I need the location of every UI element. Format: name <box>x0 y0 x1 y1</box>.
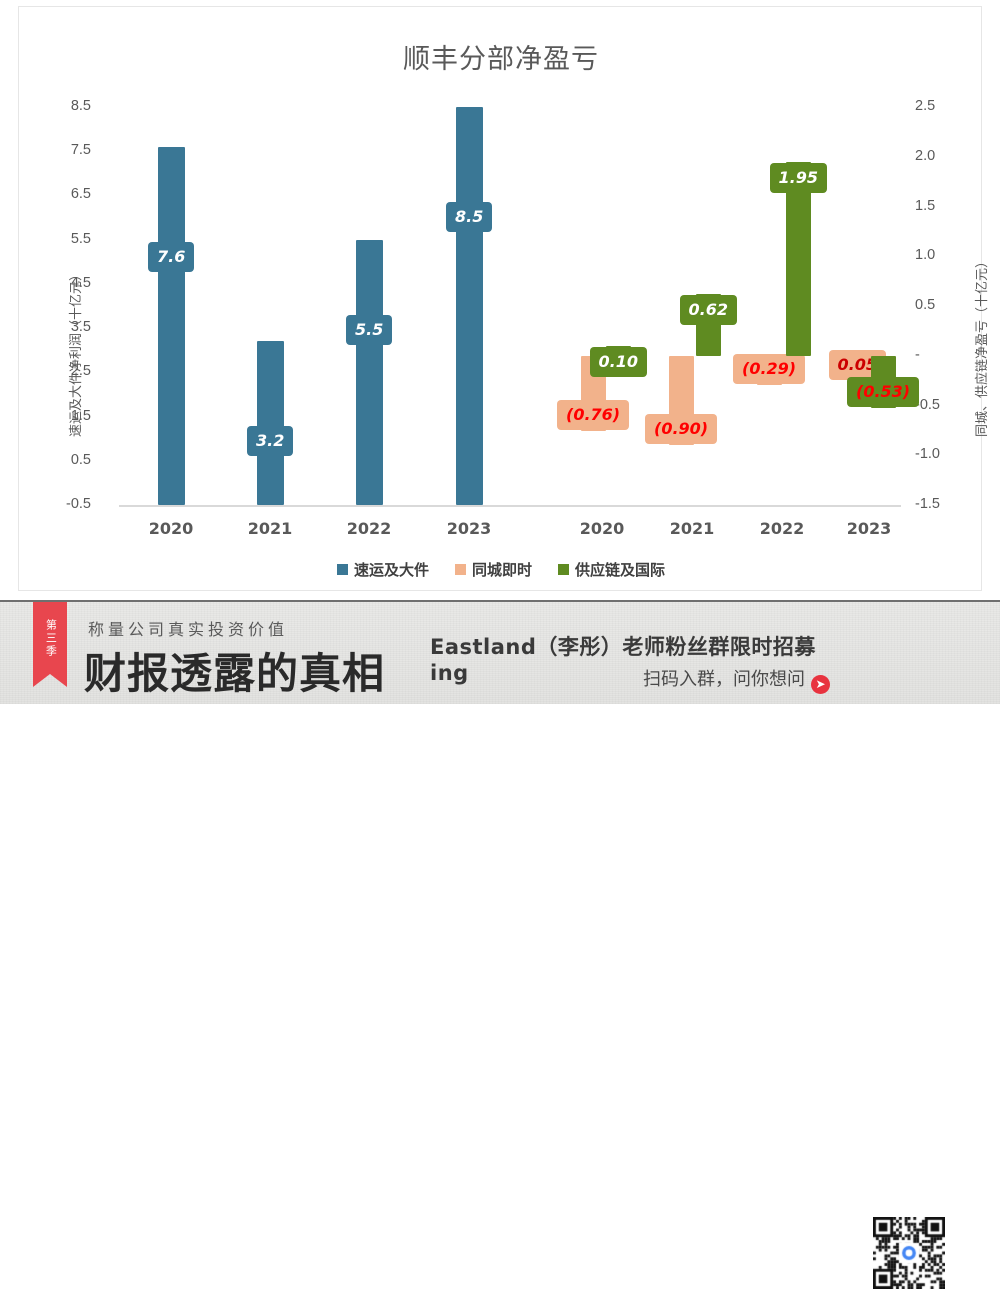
chart-title: 顺丰分部净盈亏 <box>19 37 983 76</box>
value-label-blue-2020: 7.6 <box>148 242 194 272</box>
legend-label: 供应链及国际 <box>575 559 665 580</box>
season-ribbon: 第三季 <box>33 602 67 674</box>
legend-label: 速运及大件 <box>354 559 429 580</box>
x-axis-tick: 2023 <box>834 519 904 538</box>
value-label-orange-2021: (0.90) <box>645 414 717 444</box>
screenshot-root: 顺丰分部净盈亏 8.57.56.55.54.53.52.51.50.5-0.5 … <box>0 0 1000 702</box>
x-axis-tick: 2022 <box>747 519 817 538</box>
bar-blue-2020 <box>158 147 185 505</box>
x-axis-tick: 2021 <box>657 519 727 538</box>
right-axis-tick: -1.5 <box>915 496 975 512</box>
value-label-green-2020: 0.10 <box>590 347 647 377</box>
bar-blue-2021 <box>257 341 284 505</box>
x-axis-tick: 2023 <box>434 519 504 538</box>
legend-label: 同城即时 <box>472 559 532 580</box>
value-label-blue-2023: 8.5 <box>446 202 492 232</box>
legend-swatch-icon <box>337 564 348 575</box>
plot-area <box>119 97 899 507</box>
x-axis-tick: 2020 <box>567 519 637 538</box>
left-axis-tick: 5.5 <box>39 231 91 247</box>
value-label-green-2022: 1.95 <box>770 163 827 193</box>
chart-legend: 速运及大件同城即时供应链及国际 <box>19 559 983 580</box>
right-axis-tick: -0.5 <box>915 397 975 413</box>
x-axis-tick: 2020 <box>136 519 206 538</box>
left-axis-tick: 6.5 <box>39 186 91 202</box>
left-axis-tick: 7.5 <box>39 142 91 158</box>
legend-item-2[interactable]: 供应链及国际 <box>558 559 665 580</box>
right-axis-tick: - <box>915 347 975 363</box>
brand-tagline: 称量公司真实投资价值 <box>88 616 288 640</box>
legend-swatch-icon <box>455 564 466 575</box>
qr-code-canvas <box>873 1217 945 1289</box>
value-label-green-2023: (0.53) <box>847 377 919 407</box>
right-axis-tick: 1.0 <box>915 247 975 263</box>
promo-subline: 扫码入群，问你想问➤ <box>430 665 830 694</box>
x-axis-tick: 2021 <box>235 519 305 538</box>
footer-banner: 第三季 称量公司真实投资价值 财报透露的真相 Eastland（李彤）老师粉丝群… <box>0 600 1000 704</box>
legend-item-1[interactable]: 同城即时 <box>455 559 532 580</box>
promo-subline-text: 扫码入群，问你想问 <box>643 669 805 690</box>
arrow-right-icon: ➤ <box>811 675 830 694</box>
right-axis-tick: 2.0 <box>915 148 975 164</box>
legend-item-0[interactable]: 速运及大件 <box>337 559 429 580</box>
right-axis-tick: -1.0 <box>915 446 975 462</box>
value-label-green-2021: 0.62 <box>680 295 737 325</box>
bar-blue-2023 <box>456 107 483 505</box>
value-label-orange-2022: (0.29) <box>733 354 805 384</box>
right-axis-tick: 0.5 <box>915 297 975 313</box>
legend-swatch-icon <box>558 564 569 575</box>
x-axis-tick: 2022 <box>334 519 404 538</box>
chart-card: 顺丰分部净盈亏 8.57.56.55.54.53.52.51.50.5-0.5 … <box>18 6 982 591</box>
season-ribbon-label: 第三季 <box>44 619 57 658</box>
left-axis-tick: -0.5 <box>39 496 91 512</box>
value-label-blue-2022: 5.5 <box>346 315 392 345</box>
right-axis-tick: 1.5 <box>915 198 975 214</box>
bar-blue-2022 <box>356 240 383 505</box>
left-axis-tick: 8.5 <box>39 98 91 114</box>
qr-code-icon <box>873 1217 945 1289</box>
brand-title: 财报透露的真相 <box>84 640 385 701</box>
left-axis-tick: 0.5 <box>39 452 91 468</box>
right-axis-tick: 2.5 <box>915 98 975 114</box>
left-axis-title: 速运及大件净利润（十亿元） <box>65 268 84 437</box>
right-axis-title: 同城、供应链净盈亏（十亿元） <box>971 255 990 437</box>
value-label-blue-2021: 3.2 <box>247 426 293 456</box>
value-label-orange-2020: (0.76) <box>557 400 629 430</box>
